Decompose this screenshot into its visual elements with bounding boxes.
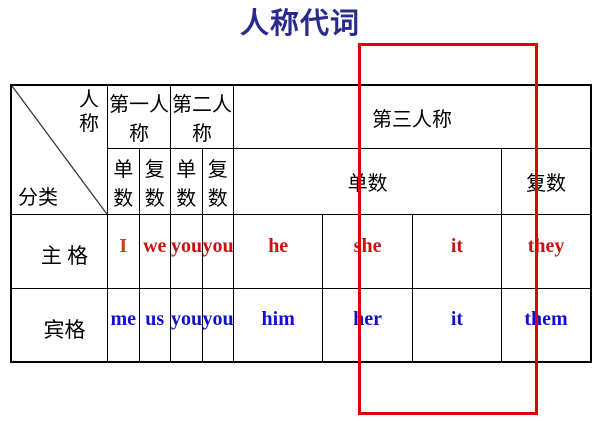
row-label-objective: 宾格 <box>11 288 108 362</box>
cell-subj-2sg: you <box>171 215 203 289</box>
corner-person-char2: 称 <box>79 112 99 136</box>
table-row-objective: 宾格 me us you you him her it them <box>11 288 591 362</box>
header-third-plural: 复数 <box>502 149 591 215</box>
corner-category-label: 分类 <box>18 186 58 210</box>
table-row-subjective: 主 格 I we you you he she it they <box>11 215 591 289</box>
row-label-subjective: 主 格 <box>11 215 108 289</box>
corner-header-cell: 人 称 分类 <box>11 85 108 215</box>
cell-subj-3sg-masc: he <box>234 215 323 289</box>
cell-subj-1sg: I <box>108 215 140 289</box>
cell-obj-2sg: you <box>171 288 203 362</box>
cell-obj-1pl: us <box>139 288 171 362</box>
cell-subj-3sg-fem: she <box>323 215 412 289</box>
cell-subj-3sg-neut: it <box>412 215 501 289</box>
cell-obj-2pl: you <box>202 288 234 362</box>
table-header-person-row: 人 称 分类 第一人称 第二人称 第三人称 <box>11 85 591 149</box>
cell-subj-3pl: they <box>502 215 591 289</box>
header-second-plural: 复数 <box>202 149 234 215</box>
cell-obj-1sg: me <box>108 288 140 362</box>
cell-obj-3sg-neut: it <box>412 288 501 362</box>
cell-obj-3pl: them <box>502 288 591 362</box>
header-second-person: 第二人称 <box>171 85 234 149</box>
pronoun-table-container: 人 称 分类 第一人称 第二人称 第三人称 单数 复数 单数 复数 单数 复数 <box>10 84 592 363</box>
page-title: 人称代词 <box>0 6 600 42</box>
header-third-person: 第三人称 <box>234 85 592 149</box>
cell-subj-2pl: you <box>202 215 234 289</box>
header-first-person: 第一人称 <box>108 85 171 149</box>
cell-subj-1pl: we <box>139 215 171 289</box>
header-first-singular: 单数 <box>108 149 140 215</box>
personal-pronoun-table: 人 称 分类 第一人称 第二人称 第三人称 单数 复数 单数 复数 单数 复数 <box>10 84 592 363</box>
corner-person-label: 人 称 <box>79 88 99 136</box>
corner-person-char1: 人 <box>79 89 99 111</box>
header-third-singular: 单数 <box>234 149 502 215</box>
cell-obj-3sg-fem: her <box>323 288 412 362</box>
cell-obj-3sg-masc: him <box>234 288 323 362</box>
header-first-plural: 复数 <box>139 149 171 215</box>
header-second-singular: 单数 <box>171 149 203 215</box>
